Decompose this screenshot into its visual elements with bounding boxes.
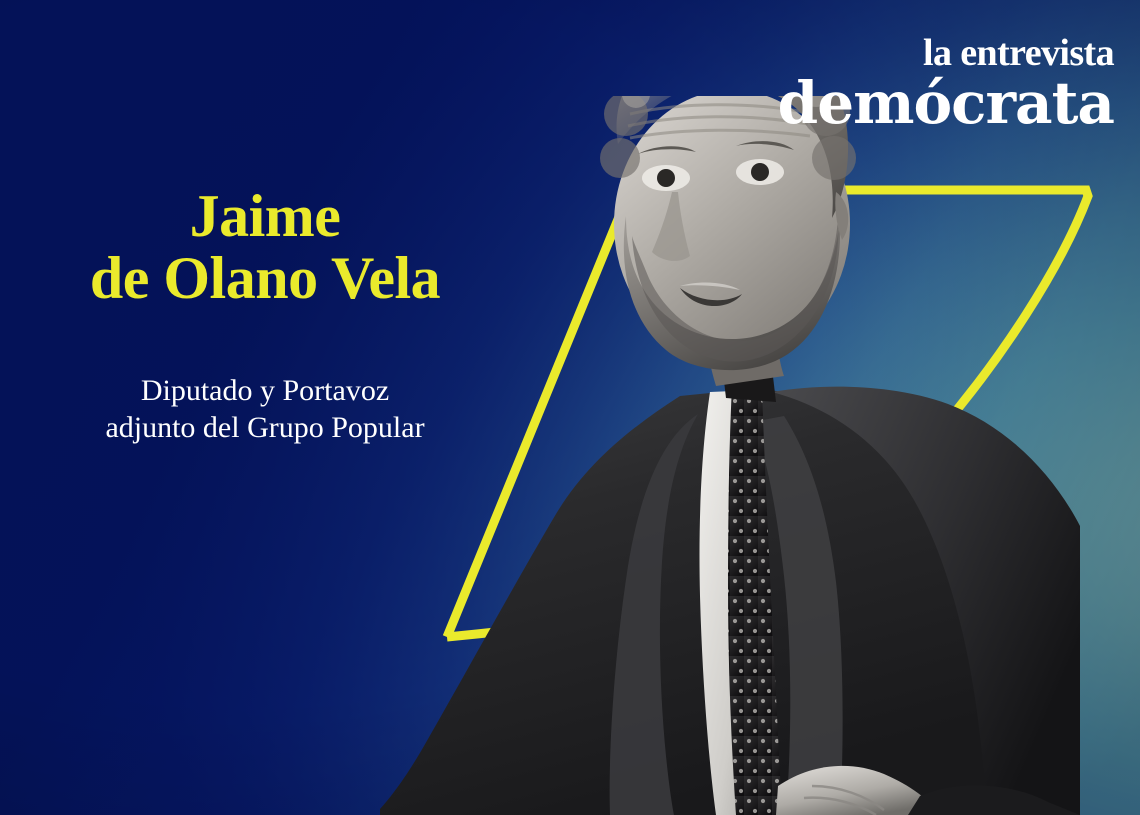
guest-role-line-2: adjunto del Grupo Popular	[0, 409, 530, 446]
guest-name-line-2: de Olano Vela	[0, 248, 530, 310]
brand-logo-line-1: la entrevista	[778, 34, 1114, 72]
guest-role-line-1: Diputado y Portavoz	[0, 372, 530, 409]
guest-name: Jaime de Olano Vela	[0, 186, 530, 310]
guest-role: Diputado y Portavoz adjunto del Grupo Po…	[0, 372, 530, 446]
promo-card: Jaime de Olano Vela Diputado y Portavoz …	[0, 0, 1140, 815]
brand-logo-line-2: demócrata	[778, 74, 1114, 133]
brand-logo: la entrevista demócrata	[778, 34, 1114, 133]
guest-name-line-1: Jaime	[0, 186, 530, 248]
